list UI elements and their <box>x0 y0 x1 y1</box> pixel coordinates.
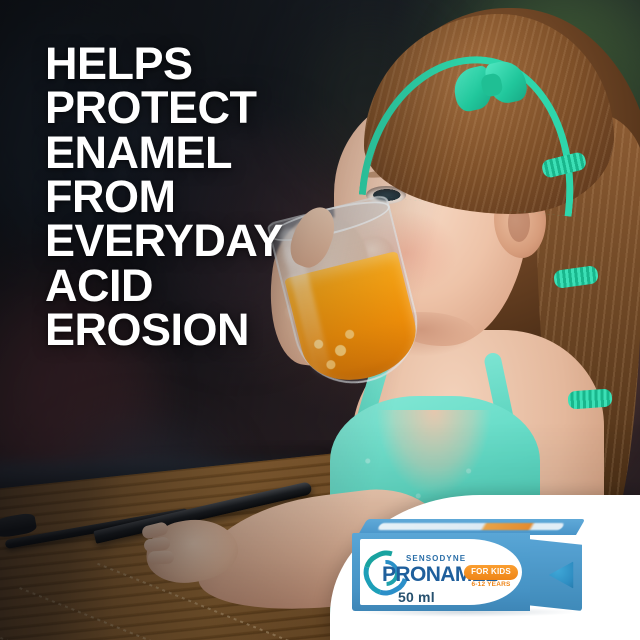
product-carton: SENSODYNE PRONAMEL FOR KIDS 6-12 YEARS 5… <box>352 519 582 611</box>
advertisement-creative: HELPS PROTECT ENAMEL FROM EVERYDAY ACID … <box>0 0 640 640</box>
age-range-label: 6-12 YEARS <box>464 581 518 588</box>
carton-front-face: SENSODYNE PRONAMEL FOR KIDS 6-12 YEARS 5… <box>352 533 530 611</box>
for-kids-badge: FOR KIDS <box>464 565 518 580</box>
hair-tie <box>567 388 612 409</box>
finger <box>148 551 174 565</box>
brand-name-sensodyne: SENSODYNE <box>406 554 466 563</box>
placemat-seam <box>0 613 257 640</box>
carton-top-branding-blur <box>377 523 565 530</box>
for-kids-badge-label: FOR KIDS <box>464 567 518 576</box>
headline-text: HELPS PROTECT ENAMEL FROM EVERYDAY ACID … <box>45 42 375 352</box>
volume-label: 50 ml <box>398 589 435 605</box>
